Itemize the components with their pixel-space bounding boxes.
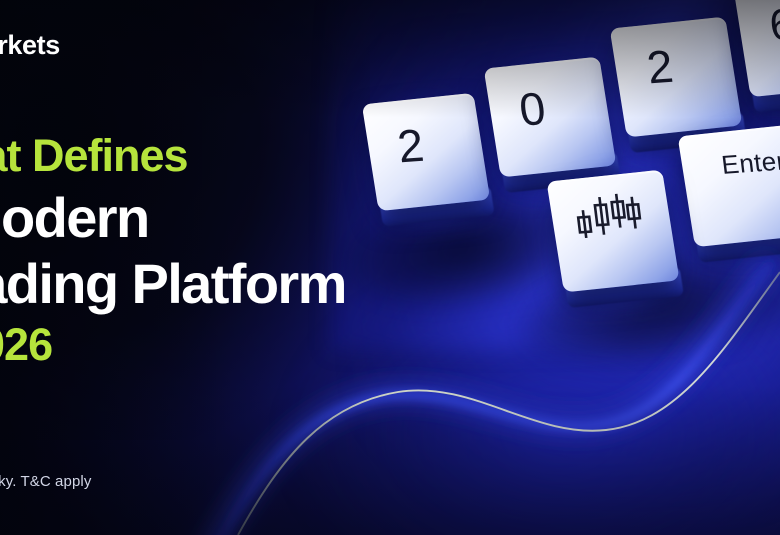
brand-logo: tMarkets [0, 30, 60, 61]
headline-line-1: hat Defines [0, 133, 346, 178]
headline-block: hat Defines Modern rading Platform 2026 [0, 133, 346, 367]
banner-canvas: 2 0 2 6 Enter [0, 0, 780, 535]
headline-line-2: Modern [0, 190, 346, 246]
headline-line-3: rading Platform [0, 256, 346, 312]
headline-line-4: 2026 [0, 322, 346, 367]
risk-disclaimer: g is risky. T&C apply [0, 473, 91, 490]
